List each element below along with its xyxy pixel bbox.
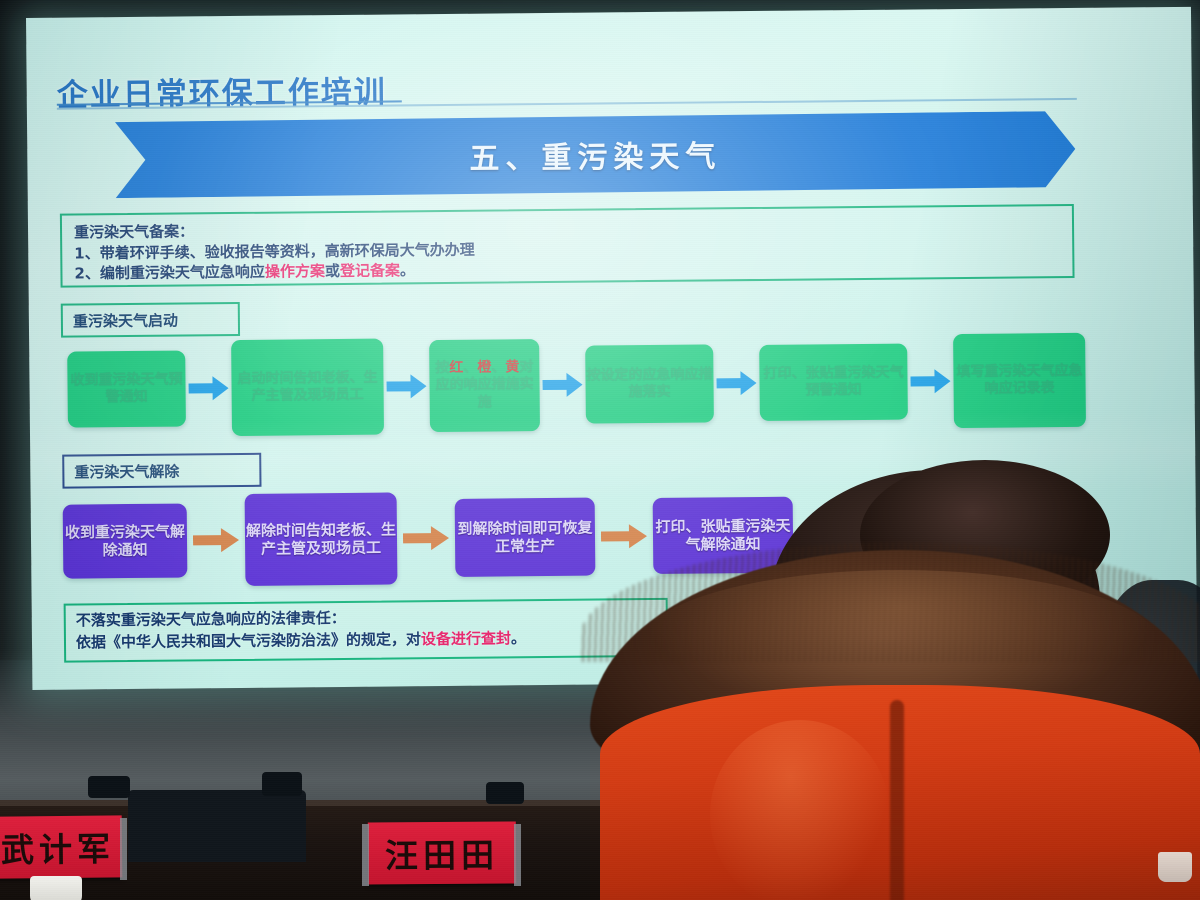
flow-node-start-3: 按红、橙、黄对应的响应措施实施 xyxy=(429,339,540,432)
liability-line-2-highlight: 设备进行查封 xyxy=(421,629,511,648)
flow-node-start-2-label: 启动时间告知老板、生产主管及现场员工 xyxy=(231,370,383,406)
nameplate-right: 汪田田 xyxy=(368,821,516,884)
flow-node-start-3-pre: 按 xyxy=(435,360,449,376)
flow-arrow-purple-2 xyxy=(397,525,455,552)
flow-node-start-2: 启动时间告知老板、生产主管及现场员工 xyxy=(231,339,384,436)
chair-post-mid xyxy=(262,772,302,796)
flow-node-start-3-hl-orange: 橙 xyxy=(477,360,491,376)
liability-line-2: 依据《中华人民共和国大气污染防治法》的规定，对设备进行查封。 xyxy=(76,627,526,652)
flow-arrow-purple-1 xyxy=(187,527,245,554)
flow-node-release-2-label: 解除时间告知老板、生产主管及现场员工 xyxy=(245,520,397,558)
flow-arrow-green-4 xyxy=(713,370,759,396)
liability-line-2-end: 。 xyxy=(511,629,526,647)
section-banner: 五、重污染天气 xyxy=(115,111,1076,198)
filing-line-2-highlight-1: 操作方案 xyxy=(265,262,325,281)
flow-arrow-green-3 xyxy=(539,372,585,398)
flow-node-start-5: 打印、张贴重污染天气预警通知 xyxy=(759,344,908,421)
filing-line-2-end: 。 xyxy=(400,261,415,279)
flow-node-start-4: 按设定的应急响应措施落实 xyxy=(585,344,714,423)
flow-node-start-1: 收到重污染天气预警通知 xyxy=(67,350,186,427)
flow-node-start-6-label: 填写重污染天气应急响应记录表 xyxy=(953,363,1085,398)
photo-scene: 企业日常环保工作培训 五、重污染天气 重污染天气备案： 1、带着环评手续、验收报… xyxy=(0,0,1200,900)
flow-node-release-2: 解除时间告知老板、生产主管及现场员工 xyxy=(245,492,398,585)
chair-post-right xyxy=(486,782,524,804)
nameplate-left: 武计军 xyxy=(0,815,122,878)
coat-seam xyxy=(890,700,904,900)
filing-line-2-pre: 2、编制重污染天气应急响应 xyxy=(74,263,265,283)
flow-node-start-3-hl-yellow: 黄 xyxy=(505,360,519,376)
flow-node-start-1-label: 收到重污染天气预警通知 xyxy=(67,371,185,406)
flow-arrow-green-1 xyxy=(185,375,231,401)
chair-post-left xyxy=(88,776,130,798)
filing-heading: 重污染天气备案： xyxy=(74,220,194,242)
flow-arrow-green-5 xyxy=(907,368,953,394)
flow-node-start-5-label: 打印、张贴重污染天气预警通知 xyxy=(759,364,907,400)
flow-node-start-6: 填写重污染天气应急响应记录表 xyxy=(953,333,1086,428)
filing-info-box: 重污染天气备案： 1、带着环评手续、验收报告等资料，高新环保局大气办办理 2、编… xyxy=(60,204,1075,288)
nameplate-right-holder-r xyxy=(514,824,521,886)
flow-arrow-green-2 xyxy=(383,373,429,399)
flow-node-start-4-label: 按设定的应急响应措施落实 xyxy=(585,366,713,401)
start-flow-row: 收到重污染天气预警通知 启动时间告知老板、生产主管及现场员工 按红、橙、黄对应的… xyxy=(67,329,1173,440)
section-banner-label: 五、重污染天气 xyxy=(115,111,1076,198)
liability-line-2-pre: 依据《中华人民共和国大气污染防治法》的规定，对 xyxy=(76,630,421,651)
flow-node-start-3-label: 按红、橙、黄对应的响应措施实施 xyxy=(429,359,539,411)
flow-node-start-3-mid-1: 、 xyxy=(463,360,477,376)
filing-line-2-mid: 或 xyxy=(325,262,340,280)
flow-node-start-3-mid-2: 、 xyxy=(491,360,505,376)
liability-line-1: 不落实重污染天气应急响应的法律责任： xyxy=(76,607,346,631)
filing-line-2: 2、编制重污染天气应急响应操作方案或登记备案。 xyxy=(74,259,415,283)
paper-cup-left xyxy=(30,876,82,900)
section-label-release: 重污染天气解除 xyxy=(62,453,261,489)
seated-person xyxy=(560,470,1200,900)
nameplate-right-holder-l xyxy=(362,824,369,886)
filing-line-2-highlight-2: 登记备案 xyxy=(340,261,400,280)
nameplate-left-holder xyxy=(120,818,127,880)
flow-node-release-1: 收到重污染天气解除通知 xyxy=(63,503,188,578)
coat-highlight xyxy=(710,720,890,900)
chair-back xyxy=(128,790,306,862)
paper-cup-right xyxy=(1158,852,1192,882)
section-label-start: 重污染天气启动 xyxy=(61,302,240,338)
flow-node-start-3-hl-red: 红 xyxy=(449,360,463,376)
flow-node-release-1-label: 收到重污染天气解除通知 xyxy=(63,522,187,560)
